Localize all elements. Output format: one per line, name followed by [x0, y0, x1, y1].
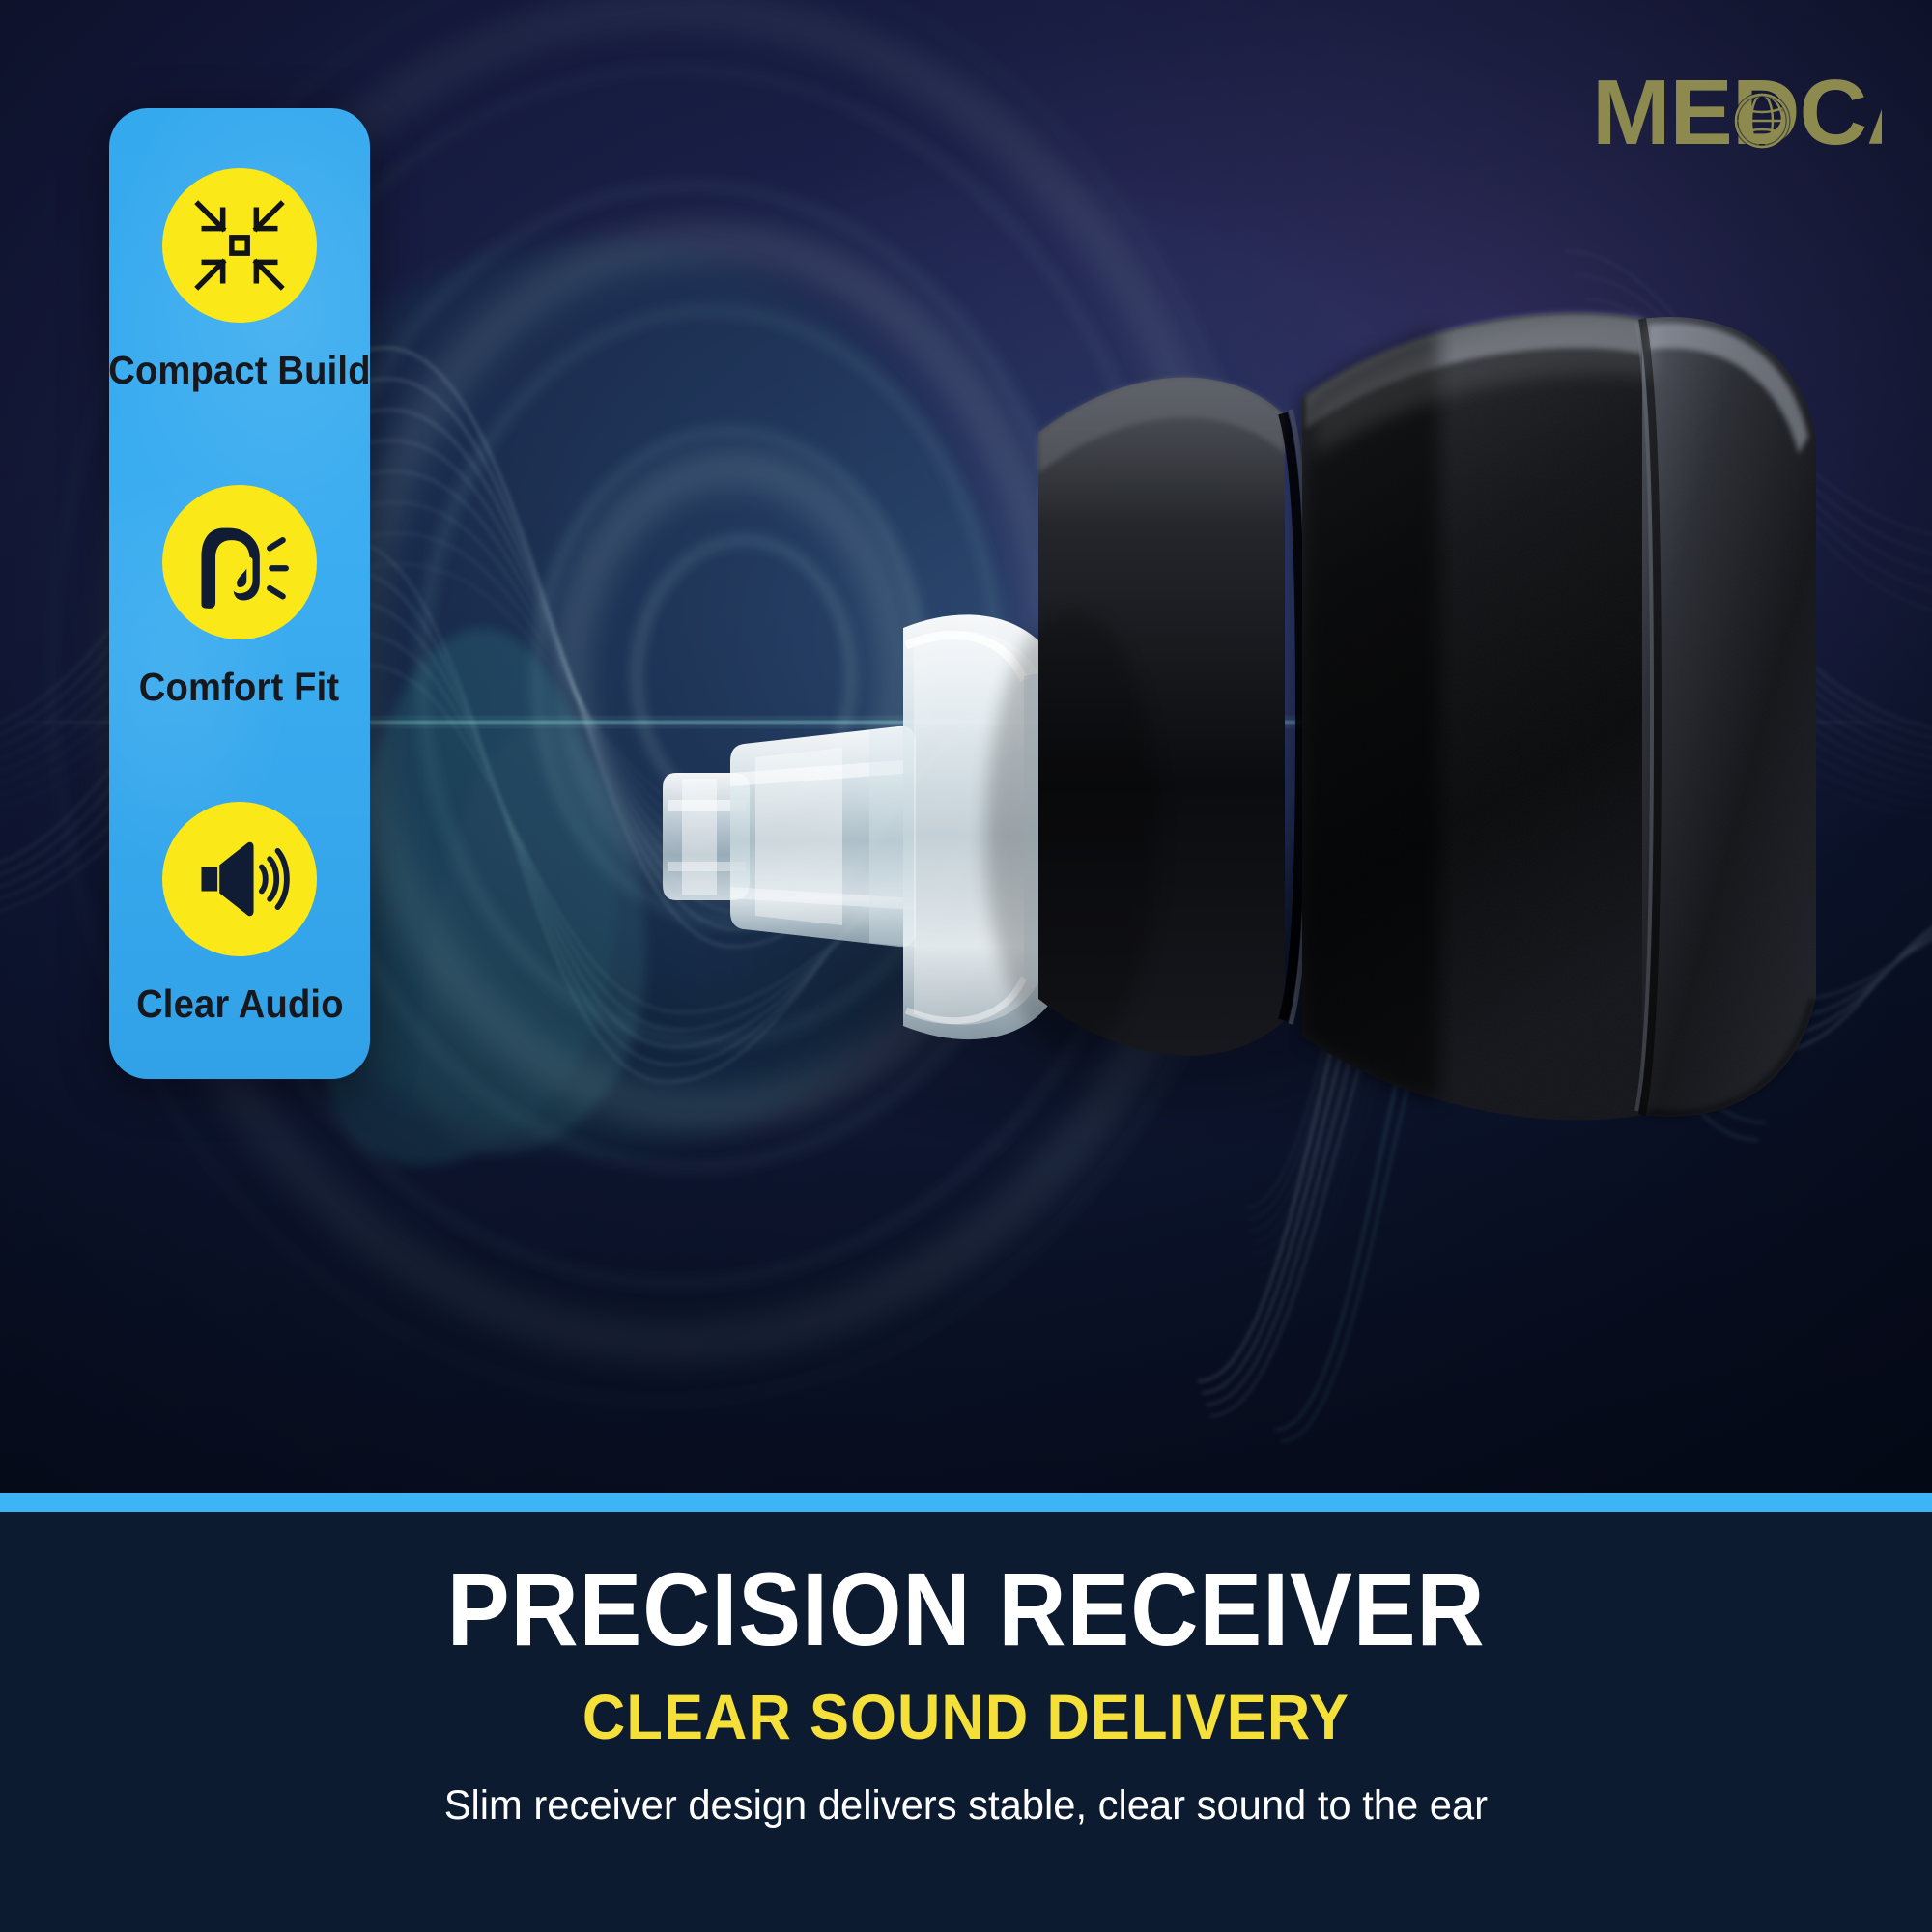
feature-item-compact-build[interactable]: Compact Build	[109, 168, 370, 393]
feature-item-comfort-fit[interactable]: Comfort Fit	[109, 485, 370, 710]
brand-logo: MEDCA	[1592, 56, 1882, 172]
feature-label: Comfort Fit	[139, 665, 339, 710]
compress-arrows-icon	[162, 168, 317, 323]
feature-item-clear-audio[interactable]: Clear Audio	[109, 802, 370, 1027]
caption-section: PRECISION RECEIVER CLEAR SOUND DELIVERY …	[0, 1512, 1932, 1932]
section-divider	[0, 1493, 1932, 1512]
ear-hearing-icon	[162, 485, 317, 639]
feature-label: Compact Build	[109, 348, 370, 393]
caption-description: Slim receiver design delivers stable, cl…	[444, 1782, 1488, 1830]
caption-title: PRECISION RECEIVER	[447, 1556, 1486, 1662]
product-infographic: MEDCA	[0, 0, 1932, 1932]
feature-panel: Compact Build	[109, 108, 370, 1079]
hero-section: MEDCA	[0, 0, 1932, 1493]
feature-label: Clear Audio	[136, 981, 344, 1027]
speaker-volume-icon	[162, 802, 317, 956]
caption-subtitle: CLEAR SOUND DELIVERY	[582, 1680, 1350, 1753]
